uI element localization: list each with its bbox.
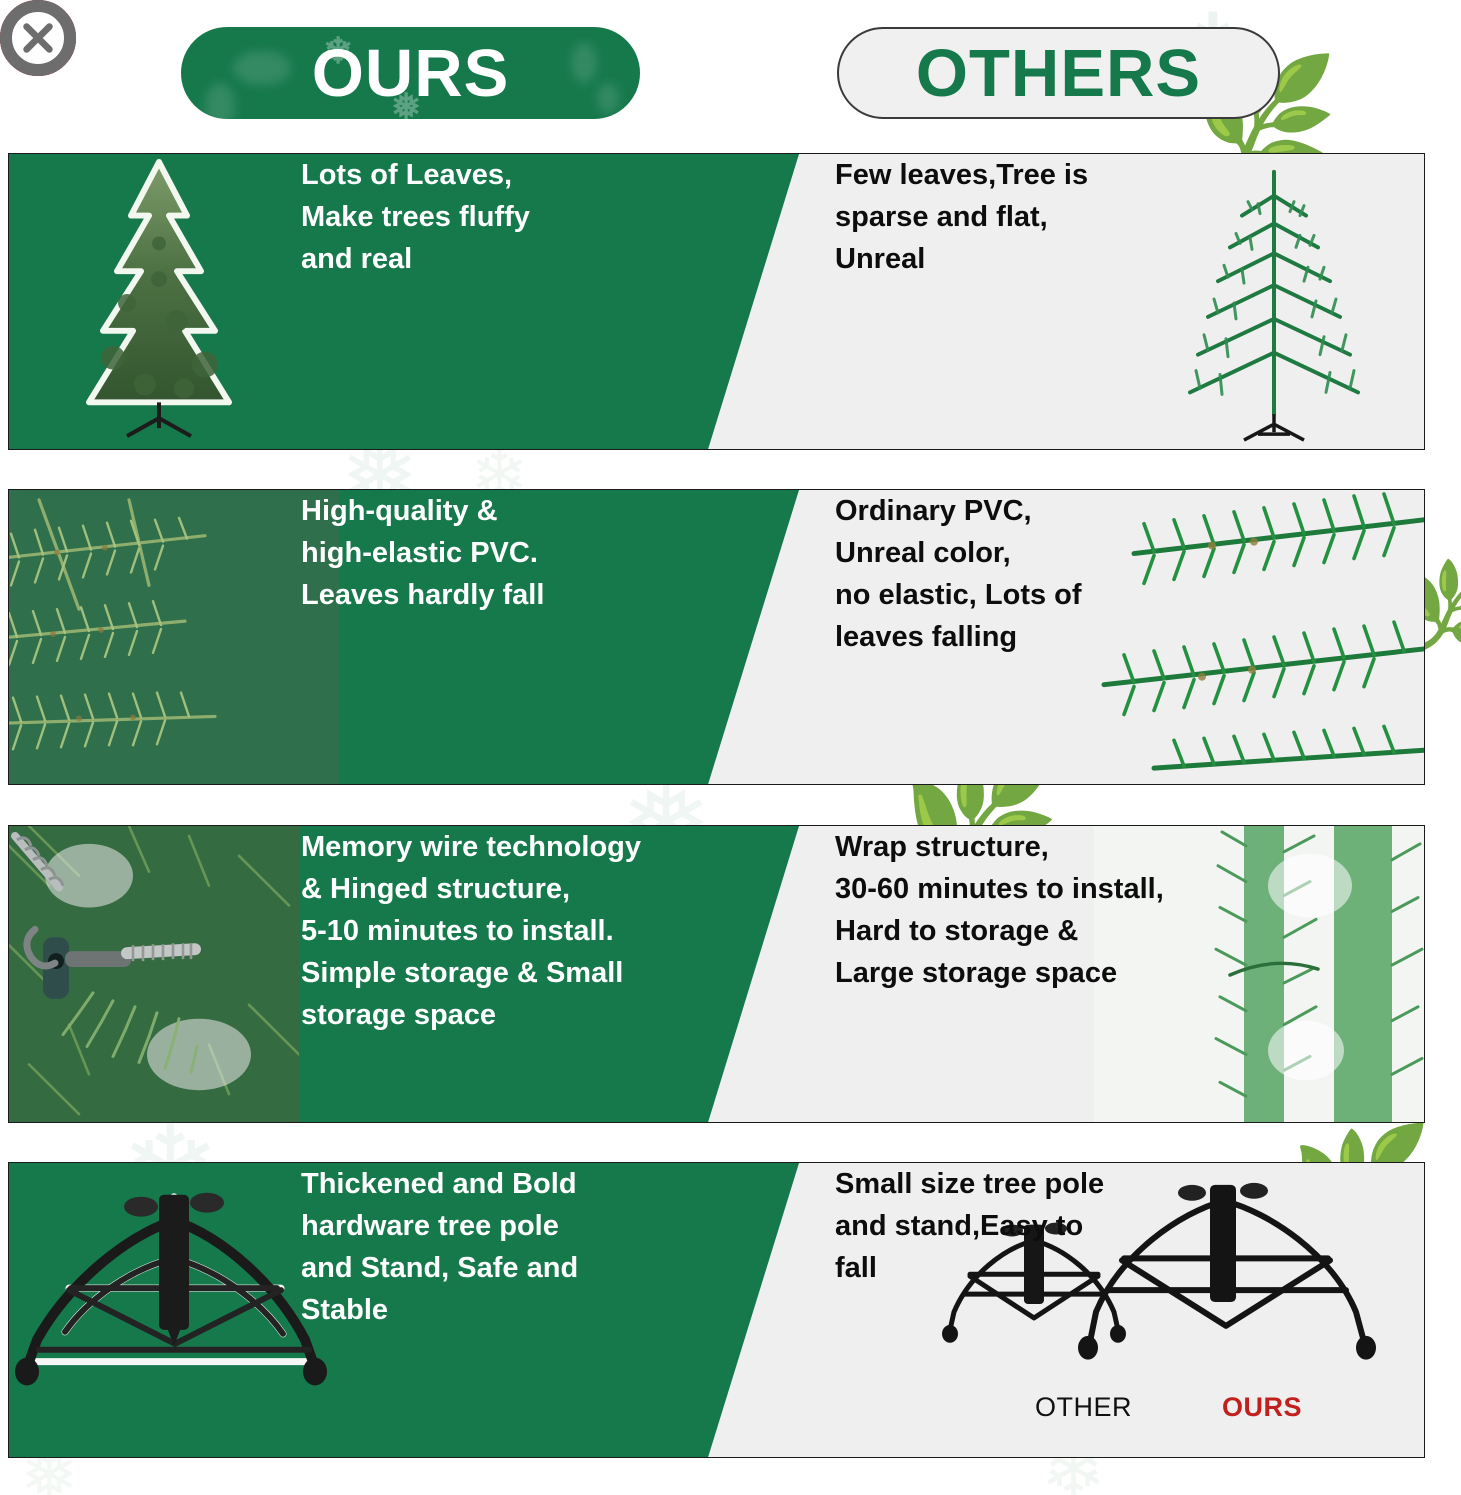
others-image-sparse-tree (1124, 154, 1424, 449)
stand-label-ours: OURS (1222, 1392, 1302, 1423)
stand-label-other: OTHER (1035, 1392, 1132, 1423)
others-text: Ordinary PVC, Unreal color, no elastic, … (835, 490, 1082, 658)
snowflake-icon: ❄ (323, 33, 354, 69)
header: ❄ ❅ OURS OTHERS (0, 0, 1461, 148)
sparkle-decoration (597, 83, 619, 113)
cross-circle-icon (0, 0, 76, 76)
header-pill-others: OTHERS (837, 27, 1280, 119)
ours-image-pine-branch (9, 490, 339, 784)
sparkle-decoration (205, 83, 235, 119)
others-text: Wrap structure, 30-60 minutes to install… (835, 826, 1164, 994)
ours-text: High-quality & high-elastic PVC. Leaves … (301, 490, 544, 616)
ours-text: Lots of Leaves, Make trees fluffy and re… (301, 154, 530, 280)
others-text: Small size tree pole and stand,Easy to f… (835, 1163, 1104, 1289)
comparison-row: Thickened and Bold hardware tree pole an… (8, 1162, 1425, 1458)
sparkle-decoration (571, 43, 597, 83)
cross-glyph (19, 19, 57, 57)
header-pill-ours: ❄ ❅ OURS (181, 27, 640, 119)
others-image-pvc-branch (1094, 490, 1424, 784)
ours-text: Thickened and Bold hardware tree pole an… (301, 1163, 578, 1331)
comparison-row: High-quality & high-elastic PVC. Leaves … (8, 489, 1425, 785)
others-text: Few leaves,Tree is sparse and flat, Unre… (835, 154, 1088, 280)
comparison-row: Lots of Leaves, Make trees fluffy and re… (8, 153, 1425, 450)
ours-image-hinge-wire (9, 826, 299, 1122)
snowflake-icon: ❅ (391, 89, 422, 119)
ours-image-tree-stand (9, 1163, 339, 1457)
ours-image-full-tree (9, 154, 309, 449)
ours-text: Memory wire technology & Hinged structur… (301, 826, 641, 1036)
header-others-label: OTHERS (916, 35, 1201, 112)
comparison-infographic: ❄ 🌿 ❅ ❄ 🌿 ❅ 🌿 ❄ 🌿 ❄ ❅ ❄ ❅ OURS OTHERS (0, 0, 1461, 1495)
comparison-row: Memory wire technology & Hinged structur… (8, 825, 1425, 1123)
sparkle-decoration (233, 51, 291, 85)
